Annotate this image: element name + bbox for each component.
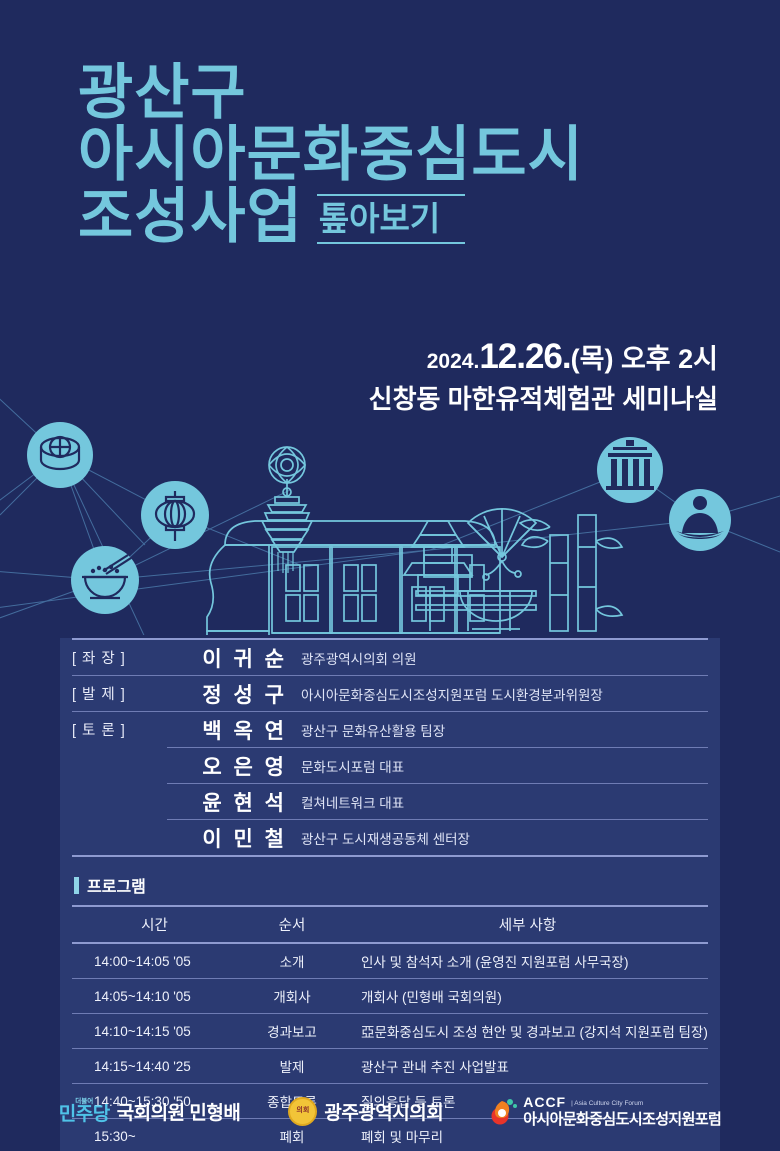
logo-accf: ACCF | Asia Culture City Forum 아시아문화중심도시… — [491, 1095, 721, 1127]
speaker-desc: 광주광역시의회 의원 — [301, 648, 417, 668]
table-row: 14:05~14:10 '05 개회사 개회사 (민형배 국회의원) — [72, 979, 708, 1014]
title-line-3: 조성사업 — [78, 186, 303, 248]
title-line-2: 아시아문화중심도시 — [78, 124, 718, 186]
speaker-name: 백 옥 연 — [167, 715, 301, 745]
council-emblem-label: 의회 — [296, 1107, 309, 1115]
minjoo-logo-mark: 더불어 민주당 — [59, 1098, 110, 1125]
meditation-icon — [669, 489, 731, 551]
accf-korean-name: 아시아문화중심도시조성지원포럼 — [523, 1112, 721, 1127]
council-emblem-icon: 의회 — [288, 1097, 317, 1126]
speaker-desc: 문화도시포럼 대표 — [301, 756, 404, 776]
program-detail: 개회사 (민형배 국회의원) — [347, 979, 708, 1014]
speaker-row: 이 민 철 광산구 도시재생공동체 센터장 — [72, 820, 708, 855]
program-heading: 프로그램 — [60, 857, 720, 905]
program-col-order: 순서 — [237, 906, 347, 943]
event-monthday: 12.26. — [479, 337, 570, 376]
lantern-icon — [141, 481, 209, 549]
program-detail: 인사 및 참석자 소개 (윤영진 지원포럼 사무국장) — [347, 943, 708, 979]
speaker-name: 이 귀 순 — [167, 643, 301, 673]
title-line-3-row: 조성사업 톺아보기 — [78, 186, 718, 248]
speaker-name: 이 민 철 — [167, 823, 301, 853]
minjoo-name: 민주당 — [59, 1105, 110, 1125]
sushi-roll-icon — [27, 422, 93, 488]
event-year: 2024. — [427, 350, 480, 373]
table-row: 14:10~14:15 '05 경과보고 亞문화중심도시 조성 현안 및 경과보… — [72, 1014, 708, 1049]
poster-root: 광산구 아시아문화중심도시 조성사업 톺아보기 2024.12.26.(목) 오… — [0, 0, 780, 1151]
logo-minjoo-party: 더불어 민주당 국회의원 민형배 — [59, 1098, 241, 1125]
speaker-row: 윤 현 석 컬쳐네트워크 대표 — [72, 784, 708, 819]
speaker-name: 오 은 영 — [167, 751, 301, 781]
program-time: 14:05~14:10 '05 — [72, 979, 237, 1014]
speaker-row: [ 좌 장 ] 이 귀 순 광주광역시의회 의원 — [72, 640, 708, 675]
accf-english-name: | Asia Culture City Forum — [571, 1101, 643, 1110]
table-row: 14:00~14:05 '05 소개 인사 및 참석자 소개 (윤영진 지원포럼… — [72, 943, 708, 979]
council-name: 광주광역시의회 — [324, 1098, 443, 1125]
program-time: 14:10~14:15 '05 — [72, 1014, 237, 1049]
program-detail: 광산구 관내 추진 사업발표 — [347, 1049, 708, 1084]
speaker-row: [ 토 론 ] 백 옥 연 광산구 문화유산활용 팀장 — [72, 712, 708, 747]
temple-gate-icon — [597, 437, 663, 503]
program-order: 경과보고 — [237, 1014, 347, 1049]
program-detail: 亞문화중심도시 조성 현안 및 경과보고 (강지석 지원포럼 팀장) — [347, 1014, 708, 1049]
program-header-row: 시간 순서 세부 사항 — [72, 906, 708, 943]
accf-abbreviation: ACCF — [523, 1095, 566, 1109]
speaker-role: [ 좌 장 ] — [72, 647, 167, 668]
program-time: 14:15~14:40 '25 — [72, 1049, 237, 1084]
info-panel: [ 좌 장 ] 이 귀 순 광주광역시의회 의원 [ 발 제 ] 정 성 구 아… — [60, 638, 720, 1151]
speaker-row: 오 은 영 문화도시포럼 대표 — [72, 748, 708, 783]
event-weekday: (목) — [571, 344, 614, 374]
hanok-pavilion — [207, 447, 622, 635]
program-order: 소개 — [237, 943, 347, 979]
noodle-bowl-icon — [71, 546, 139, 614]
program-heading-label: 프로그램 — [87, 873, 146, 897]
table-row: 14:15~14:40 '25 발제 광산구 관내 추진 사업발표 — [72, 1049, 708, 1084]
speaker-row: [ 발 제 ] 정 성 구 아시아문화중심도시조성지원포럼 도시환경분과위원장 — [72, 676, 708, 711]
speaker-name: 윤 현 석 — [167, 787, 301, 817]
speaker-desc: 광산구 도시재생공동체 센터장 — [301, 828, 470, 848]
program-order: 발제 — [237, 1049, 347, 1084]
program-col-time: 시간 — [72, 906, 237, 943]
subtitle-wrap: 톺아보기 — [317, 194, 465, 248]
program-order: 개회사 — [237, 979, 347, 1014]
speaker-list: [ 좌 장 ] 이 귀 순 광주광역시의회 의원 [ 발 제 ] 정 성 구 아… — [60, 638, 720, 857]
speaker-name: 정 성 구 — [167, 679, 301, 709]
accf-emblem-icon — [491, 1097, 517, 1125]
sponsor-logos: 더불어 민주당 국회의원 민형배 의회 광주광역시의회 ACCF | — [0, 1085, 780, 1137]
program-time: 14:00~14:05 '05 — [72, 943, 237, 979]
accf-text-block: ACCF | Asia Culture City Forum 아시아문화중심도시… — [523, 1095, 721, 1127]
speaker-role: [ 토 론 ] — [72, 719, 167, 740]
speaker-desc: 아시아문화중심도시조성지원포럼 도시환경분과위원장 — [301, 684, 603, 704]
subtitle-text: 톺아보기 — [317, 196, 465, 242]
minjoo-member-text: 국회의원 민형배 — [117, 1098, 241, 1125]
asia-culture-illustration — [0, 395, 780, 635]
logo-gwangju-council: 의회 광주광역시의회 — [288, 1097, 443, 1126]
event-date-line: 2024.12.26.(목) 오후 2시 — [369, 340, 718, 379]
program-accent-bar — [74, 877, 79, 894]
accf-top-row: ACCF | Asia Culture City Forum — [523, 1095, 721, 1109]
speaker-desc: 컬쳐네트워크 대표 — [301, 792, 404, 812]
program-col-detail: 세부 사항 — [347, 906, 708, 943]
speaker-desc: 광산구 문화유산활용 팀장 — [301, 720, 445, 740]
event-time: 오후 2시 — [613, 344, 718, 374]
poster-title-block: 광산구 아시아문화중심도시 조성사업 톺아보기 — [78, 62, 718, 248]
speaker-role: [ 발 제 ] — [72, 683, 167, 704]
subtitle-rule-bottom — [317, 242, 465, 244]
title-line-1: 광산구 — [78, 62, 718, 124]
